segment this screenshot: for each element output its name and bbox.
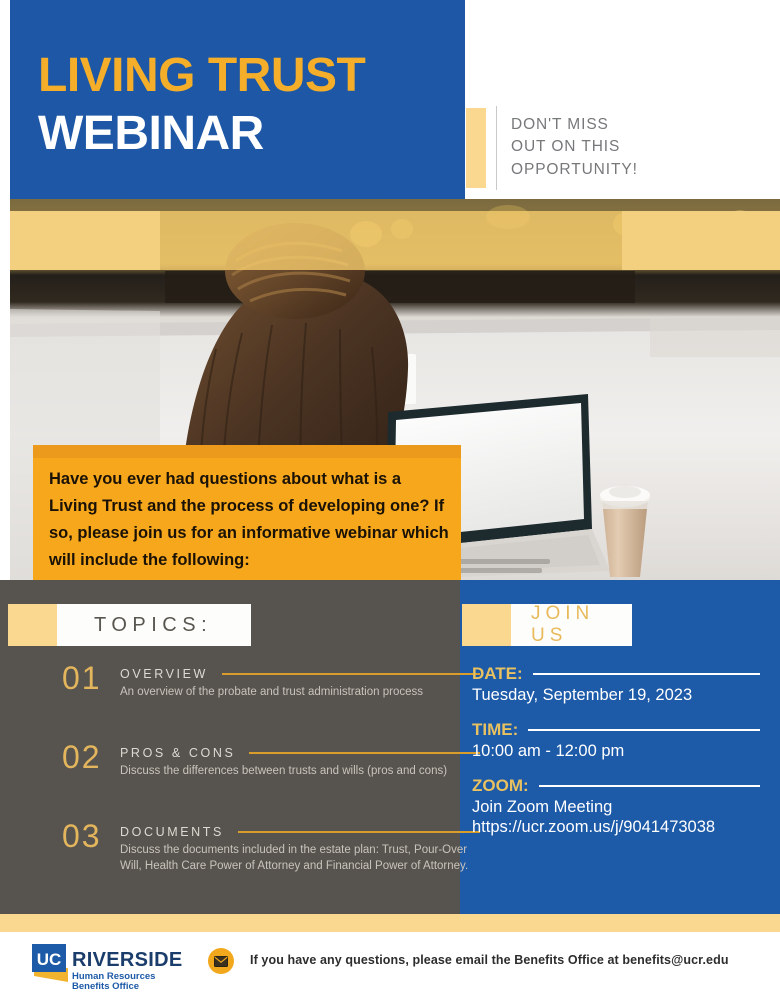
topic-description: An overview of the probate and trust adm… xyxy=(120,685,480,701)
topic-rule xyxy=(249,752,480,754)
detail-value: Join Zoom Meeting xyxy=(472,796,772,818)
topic-rule xyxy=(222,673,480,675)
ucr-logo-wordmark: RIVERSIDE xyxy=(72,949,183,971)
join-us-label-text: JOIN US xyxy=(511,603,632,647)
page-title-line2: WEBINAR xyxy=(38,110,264,158)
join-us-label-plate: JOIN US xyxy=(511,604,632,646)
topic-heading-row: PROS & CONS xyxy=(120,746,480,760)
intro-callout-text: Have you ever had questions about what i… xyxy=(49,466,449,574)
ucr-logo-mark-text: UC xyxy=(37,950,62,969)
topic-heading-row: DOCUMENTS xyxy=(120,825,480,839)
detail-rule xyxy=(528,729,760,731)
topics-label-bar: TOPICS: xyxy=(8,604,251,646)
photo-tan-band-left xyxy=(10,211,160,270)
topic-number: 01 xyxy=(62,662,102,694)
detail-key: DATE: xyxy=(472,664,523,684)
page-title-line1: LIVING TRUST xyxy=(38,52,365,100)
detail-key: ZOOM: xyxy=(472,776,529,796)
detail-date: DATE: Tuesday, September 19, 2023 xyxy=(472,664,772,706)
topics-label-text: TOPICS: xyxy=(57,614,212,637)
topic-number: 03 xyxy=(62,820,102,852)
ucr-logo-unit-line2: Benefits Office xyxy=(72,981,139,992)
topic-rule xyxy=(238,831,480,833)
detail-time: TIME: 10:00 am - 12:00 pm xyxy=(472,720,772,762)
contact-note: If you have any questions, please email … xyxy=(250,953,729,967)
zoom-meeting-link[interactable]: https://ucr.zoom.us/j/9041473038 xyxy=(472,818,772,838)
intro-callout-top-strip xyxy=(33,445,461,458)
ucr-logo: UC RIVERSIDE Human Resources Benefits Of… xyxy=(28,938,188,992)
envelope-icon xyxy=(208,948,234,974)
detail-rule xyxy=(539,785,760,787)
intro-callout-box: Have you ever had questions about what i… xyxy=(33,445,461,580)
detail-rule xyxy=(533,673,760,675)
topic-description: Discuss the differences between trusts a… xyxy=(120,764,480,780)
detail-value: Tuesday, September 19, 2023 xyxy=(472,684,772,706)
detail-zoom: ZOOM: Join Zoom Meeting https://ucr.zoom… xyxy=(472,776,772,838)
topics-label-plate: TOPICS: xyxy=(57,604,251,646)
tagline-divider xyxy=(496,106,497,190)
footer: UC RIVERSIDE Human Resources Benefits Of… xyxy=(0,932,780,1003)
tagline-text: DON'T MISS OUT ON THIS OPPORTUNITY! xyxy=(511,114,638,181)
footer-accent-band xyxy=(0,914,780,932)
detail-value: 10:00 am - 12:00 pm xyxy=(472,740,772,762)
topic-heading: PROS & CONS xyxy=(120,746,235,760)
topic-heading: OVERVIEW xyxy=(120,667,208,681)
topics-label-swatch xyxy=(8,604,57,646)
photo-tan-band-right xyxy=(622,211,780,270)
detail-key-row: ZOOM: xyxy=(472,776,760,796)
topic-heading-row: OVERVIEW xyxy=(120,667,480,681)
header-blue-block: LIVING TRUST WEBINAR xyxy=(10,0,465,199)
flyer-page: LIVING TRUST WEBINAR DON'T MISS OUT ON T… xyxy=(0,0,780,1003)
topic-description: Discuss the documents included in the es… xyxy=(120,843,480,875)
join-us-label-bar: JOIN US xyxy=(462,604,632,646)
detail-key-row: DATE: xyxy=(472,664,760,684)
topic-heading: DOCUMENTS xyxy=(120,825,224,839)
topic-number: 02 xyxy=(62,741,102,773)
detail-key: TIME: xyxy=(472,720,518,740)
detail-key-row: TIME: xyxy=(472,720,760,740)
join-us-label-swatch xyxy=(462,604,511,646)
tagline-accent-bar xyxy=(466,108,486,188)
